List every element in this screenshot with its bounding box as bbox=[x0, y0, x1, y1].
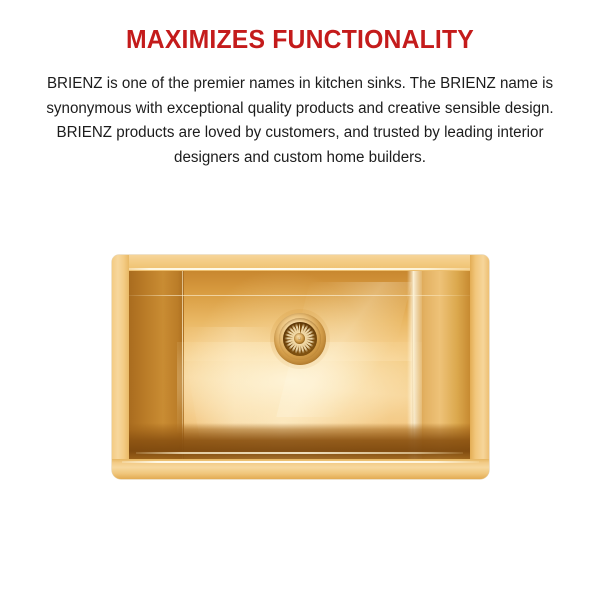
basin-ledge-line bbox=[129, 295, 470, 296]
sink-rim-right bbox=[470, 255, 489, 479]
sink-body bbox=[112, 255, 489, 479]
sink-rim-left bbox=[112, 255, 129, 479]
drain-center-screw bbox=[298, 337, 301, 340]
product-description: BRIENZ is one of the premier names in ki… bbox=[40, 72, 560, 170]
drain-assembly bbox=[274, 313, 326, 365]
product-feature-panel: MAXIMIZES FUNCTIONALITY BRIENZ is one of… bbox=[0, 0, 600, 600]
page-title: MAXIMIZES FUNCTIONALITY bbox=[9, 26, 591, 54]
basin-front-wall-highlight bbox=[136, 452, 463, 454]
sink-basin bbox=[129, 271, 470, 459]
product-image-sink bbox=[88, 238, 512, 492]
sink-rim-bottom-highlight bbox=[122, 461, 479, 463]
